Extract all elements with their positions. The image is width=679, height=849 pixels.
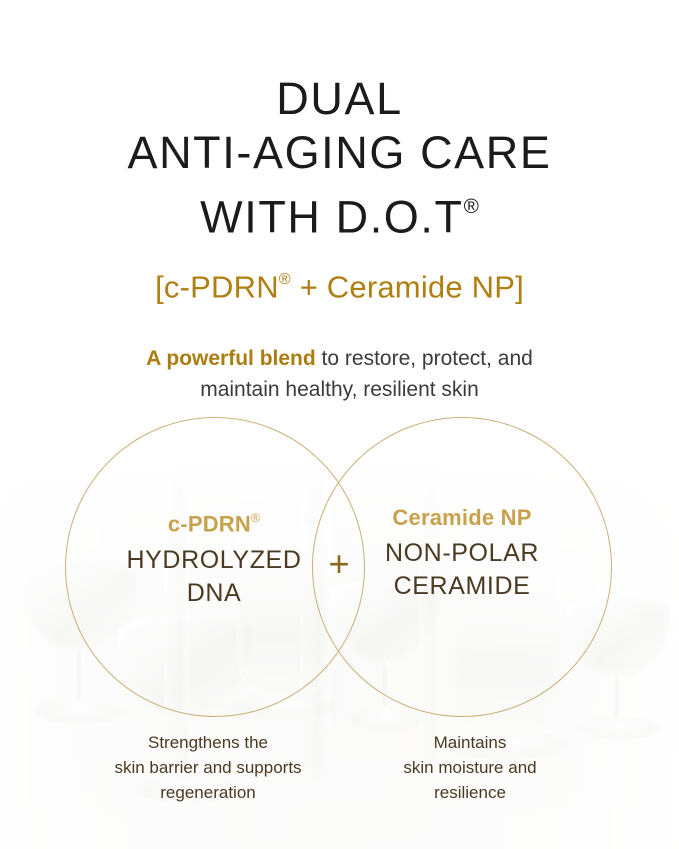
- glass-bowl-2: [118, 616, 256, 720]
- venn-right-subtitle-line-1: NON-POLAR: [385, 539, 539, 567]
- glass-foot-1: [34, 698, 126, 724]
- blend-line-2: maintain healthy, resilient skin: [200, 378, 479, 401]
- venn-left-subtitle: HYDROLYZED DNA: [96, 544, 332, 610]
- plus-icon: +: [322, 547, 356, 581]
- blend-description: A powerful blend to restore, protect, an…: [0, 343, 679, 405]
- bracket-open-text: [c-PDRN: [155, 270, 279, 305]
- venn-left-caption-line-2: skin barrier and supports: [78, 755, 338, 780]
- venn-right-subtitle: NON-POLAR CERAMIDE: [344, 537, 580, 603]
- venn-right-caption-line-1: Maintains: [340, 730, 600, 755]
- poster-canvas: DUAL ANTI-AGING CARE WITH D.O.T® [c-PDRN…: [0, 0, 679, 849]
- venn-left-caption-line-3: regeneration: [78, 780, 338, 805]
- venn-right-title: Ceramide NP: [344, 503, 580, 533]
- registered-trademark-icon: ®: [279, 270, 291, 288]
- venn-lobe-right: Ceramide NP NON-POLAR CERAMIDE: [344, 503, 580, 603]
- ingredient-bracket-line: [c-PDRN® + Ceramide NP]: [0, 259, 679, 308]
- venn-left-subtitle-line-2: DNA: [187, 579, 242, 607]
- venn-left-caption-line-1: Strengthens the: [78, 730, 338, 755]
- venn-right-caption-line-2: skin moisture and: [340, 755, 600, 780]
- glass-foot-3: [228, 692, 342, 720]
- headline-line-3: WITH D.O.T: [200, 192, 463, 243]
- venn-right-caption-line-3: resilience: [340, 780, 600, 805]
- blend-rest: to restore, protect, and: [316, 347, 533, 370]
- blend-emphasis: A powerful blend: [146, 347, 316, 370]
- glass-stem-3: [380, 662, 390, 714]
- venn-left-title: c-PDRN®: [96, 503, 332, 540]
- glass-stem-4: [612, 674, 622, 724]
- venn-right-subtitle-line-2: CERAMIDE: [394, 572, 531, 600]
- venn-lobe-left: c-PDRN® HYDROLYZED DNA: [96, 503, 332, 610]
- headline-line-1: DUAL: [276, 73, 402, 124]
- bracket-close-text: + Ceramide NP]: [291, 270, 524, 305]
- headline-line-2: ANTI-AGING CARE: [127, 127, 551, 178]
- registered-trademark-icon: ®: [251, 511, 260, 525]
- venn-left-title-text: c-PDRN: [168, 512, 251, 537]
- venn-left-subtitle-line-1: HYDROLYZED: [126, 546, 301, 574]
- glass-stem-1: [74, 648, 84, 706]
- page-title: DUAL ANTI-AGING CARE WITH D.O.T®: [0, 72, 679, 245]
- venn-left-caption: Strengthens the skin barrier and support…: [78, 730, 338, 805]
- glass-foot-4: [344, 706, 430, 730]
- glass-bowl-4: [566, 598, 670, 678]
- venn-right-caption: Maintains skin moisture and resilience: [340, 730, 600, 805]
- registered-trademark-icon: ®: [464, 195, 479, 218]
- venn-right-title-text: Ceramide NP: [392, 505, 531, 530]
